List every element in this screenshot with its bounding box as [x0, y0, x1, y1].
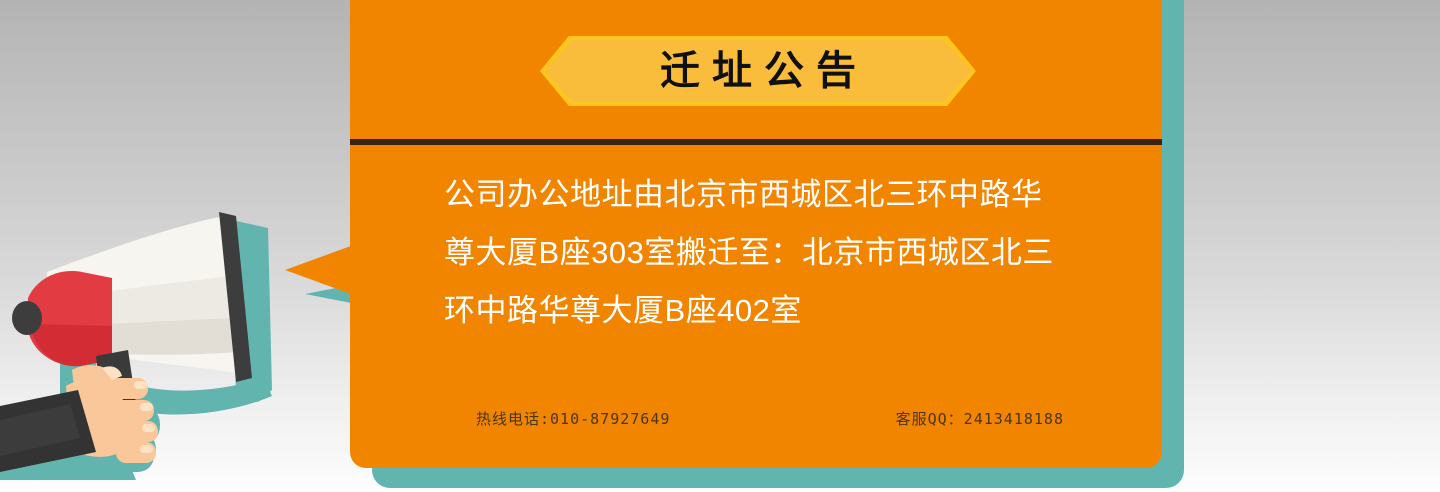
megaphone-illustration [0, 190, 350, 492]
announcement-banner: 迁址公告 公司办公地址由北京市西城区北三环中路华 尊大厦B座303室搬迁至：北京… [0, 0, 1440, 492]
body-line-1: 公司办公地址由北京市西城区北三环中路华 [444, 166, 1094, 224]
announcement-body: 公司办公地址由北京市西城区北三环中路华 尊大厦B座303室搬迁至：北京市西城区北… [444, 166, 1094, 340]
body-line-2: 尊大厦B座303室搬迁至：北京市西城区北三 [444, 224, 1094, 282]
title-ribbon: 迁址公告 [540, 36, 976, 106]
body-line-3: 环中路华尊大厦B座402室 [444, 282, 1094, 340]
megaphone-knob [12, 301, 42, 335]
title-divider [350, 139, 1162, 145]
speech-bubble-tail [285, 243, 359, 297]
qq-text: 客服QQ：2413418188 [896, 408, 1064, 429]
announcement-title: 迁址公告 [540, 36, 976, 106]
hotline-text: 热线电话:010-87927649 [476, 408, 670, 429]
contact-footer: 热线电话:010-87927649 客服QQ：2413418188 [444, 408, 1094, 429]
